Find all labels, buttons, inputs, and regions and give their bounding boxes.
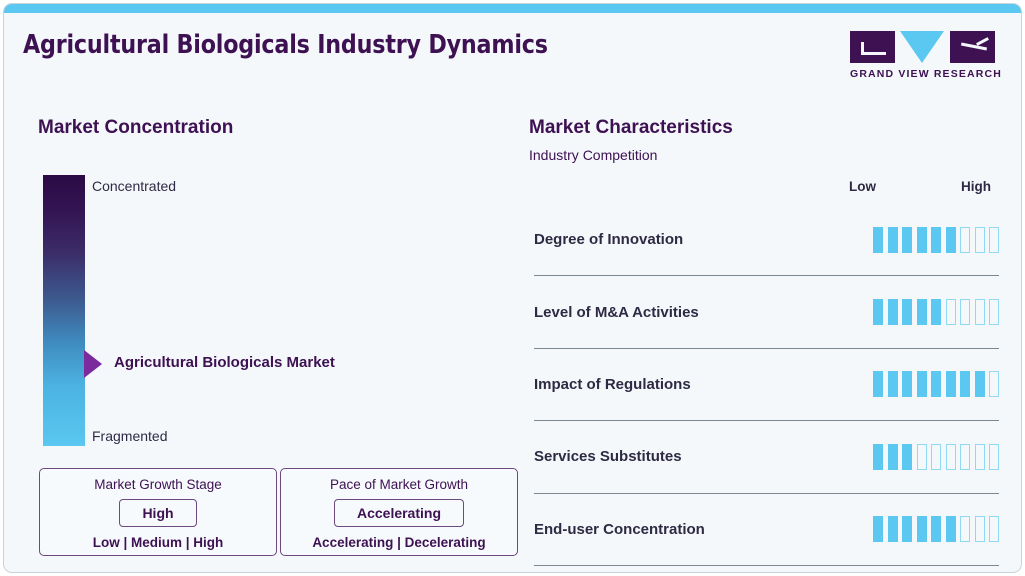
characteristic-gauge [873, 516, 999, 542]
market-characteristics-heading: Market Characteristics [529, 117, 733, 139]
characteristic-label: Level of M&A Activities [534, 304, 873, 321]
gauge-segment-empty [960, 516, 970, 542]
market-position-label: Agricultural Biologicals Market [114, 354, 335, 371]
gauge-segment-filled [873, 516, 883, 542]
gauge-segment-empty [989, 444, 999, 470]
gauge-segment-empty [931, 444, 941, 470]
gauge-segment-filled [888, 299, 898, 325]
gauge-segment-empty [989, 299, 999, 325]
characteristic-label: End-user Concentration [534, 521, 873, 538]
scale-label-concentrated: Concentrated [92, 178, 176, 194]
market-characteristics-subheading: Industry Competition [529, 147, 657, 163]
gauge-segment-empty [946, 444, 956, 470]
gauge-segment-empty [960, 227, 970, 253]
stat-box-pace-of-market-growth: Pace of Market Growth Accelerating Accel… [280, 468, 518, 556]
gauge-segment-empty [975, 299, 985, 325]
stat-scale: Low | Medium | High [40, 535, 276, 550]
logo-r-icon [950, 31, 995, 63]
gauge-segment-filled [931, 227, 941, 253]
gauge-segment-filled [917, 371, 927, 397]
gauge-segment-empty [960, 444, 970, 470]
gauge-segment-filled [888, 516, 898, 542]
brand-logo: GRAND VIEW RESEARCH [850, 31, 996, 80]
gauge-segment-filled [960, 371, 970, 397]
stat-value: High [119, 499, 196, 527]
gauge-segment-empty [960, 299, 970, 325]
market-concentration-heading: Market Concentration [38, 117, 233, 139]
characteristic-label: Degree of Innovation [534, 231, 873, 248]
gauge-segment-filled [888, 371, 898, 397]
gauge-segment-filled [902, 444, 912, 470]
gauge-segment-filled [888, 227, 898, 253]
stat-value: Accelerating [334, 499, 464, 527]
gauge-segment-filled [931, 299, 941, 325]
characteristic-gauge [873, 444, 999, 470]
stat-scale: Accelerating | Decelerating [281, 535, 517, 550]
gauge-segment-empty [975, 516, 985, 542]
characteristic-gauge [873, 227, 999, 253]
top-accent-bar [4, 4, 1021, 13]
characteristics-list: Degree of InnovationLevel of M&A Activit… [534, 204, 999, 566]
gauge-segment-filled [888, 444, 898, 470]
gauge-segment-filled [917, 299, 927, 325]
gauge-segment-filled [917, 516, 927, 542]
logo-marks [850, 31, 996, 63]
characteristic-gauge [873, 371, 999, 397]
gauge-segment-filled [873, 227, 883, 253]
gauge-segment-empty [989, 516, 999, 542]
gauge-segment-filled [873, 444, 883, 470]
stat-title: Pace of Market Growth [281, 477, 517, 492]
infographic-card: Agricultural Biologicals Industry Dynami… [3, 3, 1022, 573]
gauge-segment-empty [975, 444, 985, 470]
scale-label-fragmented: Fragmented [92, 428, 167, 444]
characteristic-row: Level of M&A Activities [534, 276, 999, 348]
gauge-segment-empty [975, 227, 985, 253]
logo-triangle-icon [900, 31, 945, 63]
market-position-arrow-icon [84, 350, 102, 378]
gauge-scale-high-label: High [961, 179, 991, 194]
characteristic-row: Impact of Regulations [534, 349, 999, 421]
characteristic-gauge [873, 299, 999, 325]
gauge-scale-low-label: Low [849, 179, 876, 194]
gauge-segment-filled [946, 516, 956, 542]
concentration-gradient-bar [43, 175, 85, 446]
gauge-segment-filled [946, 227, 956, 253]
gauge-segment-filled [873, 371, 883, 397]
stat-title: Market Growth Stage [40, 477, 276, 492]
gauge-segment-filled [975, 371, 985, 397]
gauge-segment-empty [989, 371, 999, 397]
gauge-segment-empty [946, 299, 956, 325]
characteristic-row: Services Substitutes [534, 421, 999, 493]
logo-wordmark: GRAND VIEW RESEARCH [850, 68, 996, 80]
logo-g-icon [850, 31, 895, 63]
characteristic-row: End-user Concentration [534, 494, 999, 566]
stat-box-market-growth-stage: Market Growth Stage High Low | Medium | … [39, 468, 277, 556]
characteristic-row: Degree of Innovation [534, 204, 999, 276]
gauge-segment-empty [917, 444, 927, 470]
gauge-segment-filled [902, 516, 912, 542]
page-title: Agricultural Biologicals Industry Dynami… [23, 30, 548, 60]
gauge-segment-filled [917, 227, 927, 253]
gauge-segment-empty [989, 227, 999, 253]
characteristic-label: Services Substitutes [534, 448, 873, 465]
gauge-segment-filled [902, 299, 912, 325]
gauge-segment-filled [946, 371, 956, 397]
gauge-segment-filled [902, 371, 912, 397]
characteristic-label: Impact of Regulations [534, 376, 873, 393]
gauge-segment-filled [931, 516, 941, 542]
gauge-segment-filled [873, 299, 883, 325]
gauge-segment-filled [902, 227, 912, 253]
gauge-segment-filled [931, 371, 941, 397]
